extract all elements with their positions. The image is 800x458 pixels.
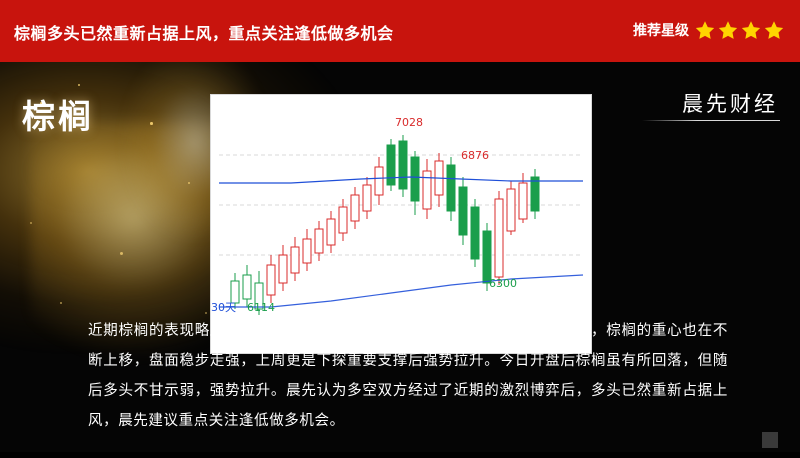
chart-period-label: 30天 [211, 301, 236, 314]
content-stage: 棕榈 晨先财经 [0, 62, 800, 458]
rating-group: 推荐星级 [633, 20, 784, 40]
gold-speck [188, 182, 190, 184]
corner-marker [762, 432, 778, 448]
chart-annotation-high: 7028 [395, 116, 423, 129]
rating-stars [695, 20, 784, 40]
gold-speck [30, 222, 32, 224]
slide-root: 棕榈多头已然重新占据上风，重点关注逢低做多机会 推荐星级 棕榈 晨先财经 [0, 0, 800, 458]
candlestick-chart[interactable]: 7028 6876 6300 6114 30天 [210, 94, 592, 354]
article-body: 近期棕榈的表现略显平淡，不如往日之精彩，只是小幅震荡走高，即便如此，棕榈的重心也… [88, 316, 728, 436]
banner-title: 棕榈多头已然重新占据上风，重点关注逢低做多机会 [14, 20, 394, 44]
gold-speck [60, 302, 62, 304]
rating-label: 推荐星级 [633, 20, 689, 40]
article-paragraph: 近期棕榈的表现略显平淡，不如往日之精彩，只是小幅震荡走高，即便如此，棕榈的重心也… [88, 316, 728, 436]
chart-canvas: 7028 6876 6300 6114 30天 [211, 95, 591, 353]
chart-annotation-low: 6300 [489, 277, 517, 290]
star-icon [718, 20, 738, 40]
gold-speck [205, 312, 207, 314]
star-icon [764, 20, 784, 40]
bottom-strip [0, 452, 800, 458]
gold-speck [78, 84, 80, 86]
chart-annotation-second-high: 6876 [461, 149, 489, 162]
brand-underline [642, 120, 780, 121]
gold-speck [120, 252, 123, 255]
brand-watermark-right: 晨先财经 [682, 88, 778, 118]
star-icon [695, 20, 715, 40]
gold-speck [150, 122, 153, 125]
top-banner: 棕榈多头已然重新占据上风，重点关注逢低做多机会 推荐星级 [0, 0, 800, 62]
chart-annotation-start-low: 6114 [247, 301, 275, 314]
brand-watermark-left: 棕榈 [22, 90, 94, 138]
star-icon [741, 20, 761, 40]
